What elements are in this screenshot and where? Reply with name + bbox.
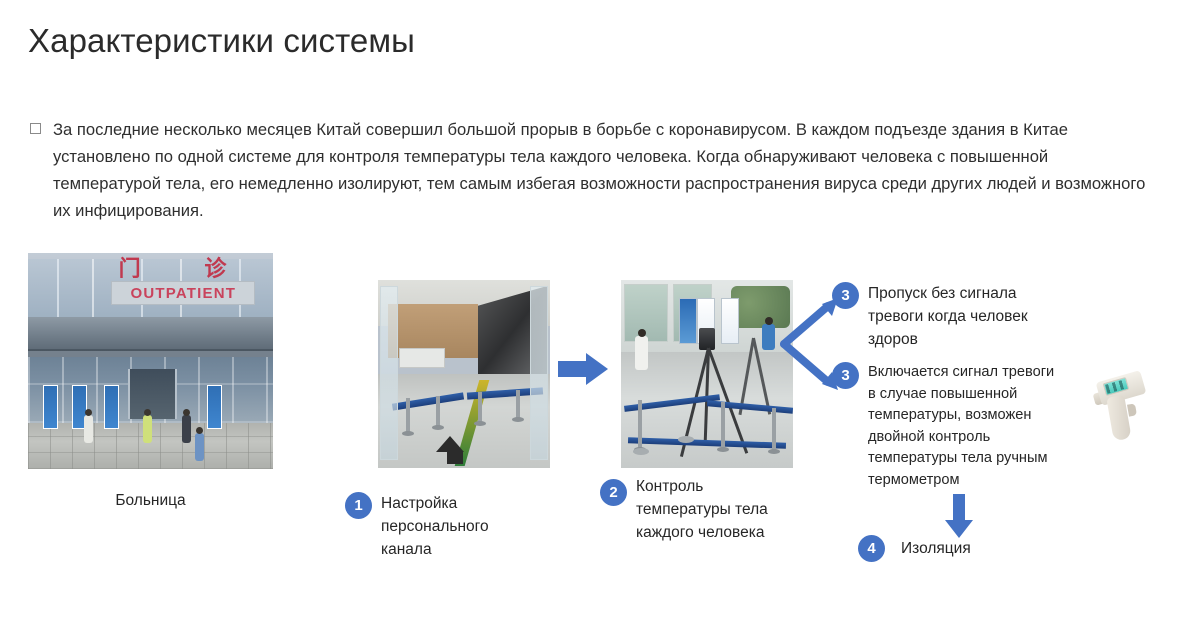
tripod-poster (721, 298, 739, 344)
tripod-barrier-base (678, 436, 694, 443)
hospital-main-door (128, 369, 176, 419)
tripod-staff-person (762, 324, 775, 350)
hospital-info-banner (104, 385, 119, 429)
arrow-step1-to-step2-icon (556, 350, 612, 390)
handheld-thermometer-photo (1092, 370, 1164, 452)
step-3a-number-badge: 3 (832, 282, 859, 309)
tripod-staff-person (635, 336, 648, 370)
thermal-camera-checkpoint-photo (621, 280, 793, 468)
step-4-label: Изоляция (901, 535, 971, 562)
tripod-barrier-post (721, 402, 725, 448)
corridor-floor-arrow-icon (436, 436, 464, 452)
hospital-photo-caption: Больница (115, 492, 185, 509)
hospital-sign-text: OUTPATIENT (131, 285, 237, 302)
corridor-glass-door (380, 286, 398, 460)
step-1-label: Настройка персонального канала (381, 492, 525, 561)
step-3a-label: Пропуск без сигнала тревоги когда челове… (868, 282, 1072, 351)
hospital-canopy-shadow (28, 349, 273, 357)
step-1-number-badge: 1 (345, 492, 372, 519)
hospital-chinese-sign-left: 门 (119, 258, 141, 280)
hospital-entrance-canopy (28, 317, 273, 351)
step-2-label: Контроль температуры тела каждого челове… (636, 475, 800, 544)
tripod-window (624, 284, 667, 342)
step-1-setup-personal-channel[interactable]: 1 Настройка персонального канала (345, 492, 525, 561)
thermometer-grip (1106, 395, 1131, 441)
step-3b-number-badge: 3 (832, 362, 859, 389)
arrow-to-isolation-icon (942, 492, 976, 540)
hospital-info-banner (207, 385, 222, 429)
hospital-mullion (57, 259, 59, 317)
tripod-barrier-post (638, 400, 642, 448)
hospital-photo-caption-wrap: Больница (28, 492, 273, 510)
tripod-outdoor-greenery (731, 286, 789, 328)
hospital-visitor (143, 415, 152, 443)
step-4-isolation[interactable]: 4 Изоляция (858, 535, 1058, 562)
body-paragraph: За последние несколько месяцев Китай сов… (53, 116, 1153, 224)
corridor-glass-door (530, 286, 548, 460)
step-3b-label: Включается сигнал тревоги в случае повыш… (868, 362, 1062, 491)
hospital-chinese-sign-right: 诊 (204, 258, 226, 280)
hospital-visitor (84, 415, 93, 443)
empty-square-bullet-icon (30, 123, 41, 134)
step-2-body-temperature-control[interactable]: 2 Контроль температуры тела каждого чело… (600, 479, 800, 548)
step-3-healthy-pass[interactable]: 3 Пропуск без сигнала тревоги когда чело… (832, 282, 1072, 351)
tripod-poster (679, 298, 697, 344)
hospital-info-banner (43, 385, 58, 429)
corridor-barrier-post (516, 390, 520, 418)
tripod-barrier-post (772, 408, 776, 450)
thermometer-trigger (1127, 403, 1137, 416)
body-bullet-block: За последние несколько месяцев Китай сов… (30, 116, 1160, 224)
hospital-signboard: OUTPATIENT (111, 281, 255, 305)
page-title: Характеристики системы (28, 22, 415, 60)
hospital-entrance-photo: 门 诊 OUTPATIENT (28, 253, 273, 469)
step-3-alarm-triggered[interactable]: 3 Включается сигнал тревоги в случае пов… (832, 362, 1062, 491)
personal-channel-corridor-photo (378, 280, 550, 468)
corridor-barrier-post (436, 396, 440, 426)
corridor-barrier-post (406, 398, 410, 432)
corridor-reception-counter (399, 348, 446, 368)
hospital-visitor (182, 415, 191, 443)
corridor-floor-arrow-tail (447, 451, 463, 464)
corridor-barrier-post (478, 392, 482, 422)
step-2-number-badge: 2 (600, 479, 627, 506)
step-4-number-badge: 4 (858, 535, 885, 562)
hospital-visitor (195, 433, 204, 461)
tripod-barrier-base (633, 448, 649, 455)
